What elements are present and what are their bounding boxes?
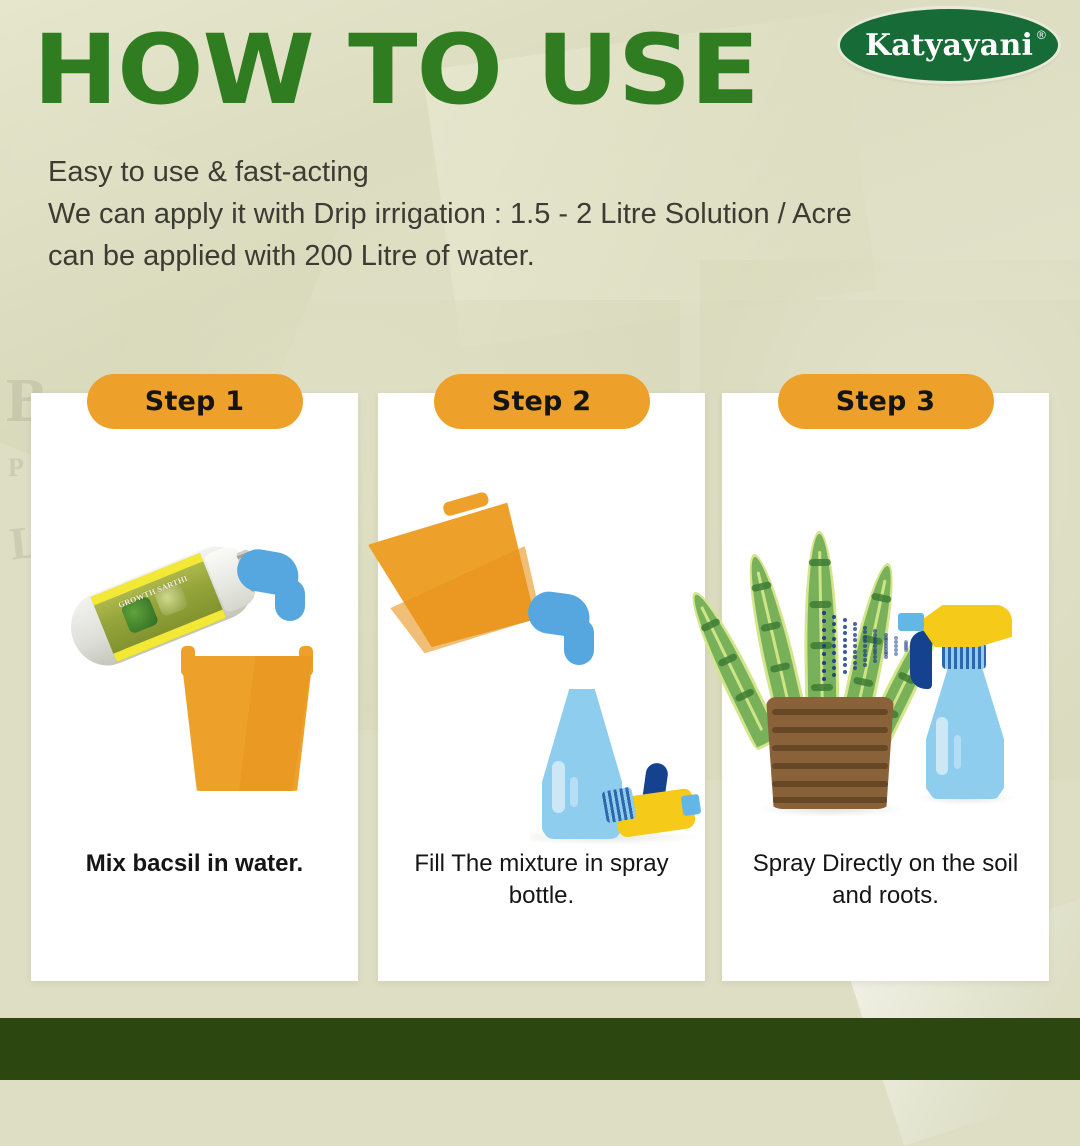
spray-mist-icon [822,609,904,679]
step-3-caption: Spray Directly on the soil and roots. [740,848,1031,913]
step-card-1[interactable]: Step 1 GROWTH SARTHI [31,393,358,981]
subheading-line-1: Easy to use & fast-acting [48,152,1008,194]
step-card-2[interactable]: Step 2 Fill The mi [378,393,705,981]
subheading-line-3: can be applied with 200 Litre of water. [48,236,1008,278]
liquid-pour-icon [528,593,608,693]
spray-head [918,605,1012,647]
step-3-pill: Step 3 [778,374,994,429]
step-2-caption: Fill The mixture in spray bottle. [396,848,687,913]
spray-bottle-highlight-1 [936,717,948,775]
step-1-pill: Step 1 [87,374,303,429]
step-3-illustration [722,441,1049,841]
step-2-label: Step 2 [492,386,591,417]
tilted-bucket-icon [365,490,555,675]
step-card-3[interactable]: Step 3 [722,393,1049,981]
step-2-illustration [378,441,705,841]
registered-trademark-icon: ® [1037,28,1046,42]
footer-bar [0,1018,1080,1080]
spray-collar [601,787,636,824]
liquid-pour-icon [237,551,317,629]
plant-pot [766,697,894,809]
subheading-block: Easy to use & fast-acting We can apply i… [48,152,1008,277]
spray-trigger [910,631,932,689]
liquid-stream [564,619,594,665]
spray-bottle-highlight-2 [570,777,578,807]
brand-logo: Katyayani® [840,9,1058,81]
step-1-label: Step 1 [145,386,244,417]
bucket-icon [181,646,313,791]
spray-bottle-highlight-1 [552,761,565,813]
step-3-label: Step 3 [836,386,935,417]
step-1-caption: Mix bacsil in water. [49,848,340,880]
page-title: HOW TO USE [33,22,759,118]
spray-nozzle [681,794,702,816]
step-1-illustration: GROWTH SARTHI [31,441,358,841]
spray-bottle-highlight-2 [954,735,961,769]
brand-name: Katyayani® [865,28,1033,63]
subheading-line-2: We can apply it with Drip irrigation : 1… [48,194,1008,236]
spray-bottle-icon [530,689,700,839]
liquid-stream [275,579,305,621]
spray-bottle-icon [898,589,1038,799]
step-2-pill: Step 2 [434,374,650,429]
